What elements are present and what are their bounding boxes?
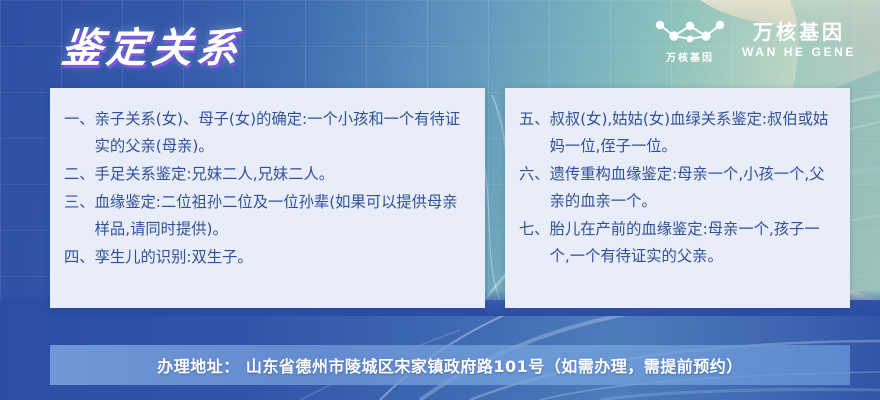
content-cards: 一、 亲子关系(女)、母子(女)的确定:一个小孩和一个有待证实的父亲(母亲)。 … [50, 88, 850, 308]
poster: 鉴定关系 [0, 0, 880, 400]
list-item: 七、 胎儿在产前的血缘鉴定:母亲一个,孩子一个,一个有待证实的父亲。 [519, 216, 836, 270]
list-item-number: 四、 [64, 244, 95, 271]
logo-mark: 万核基因 [654, 16, 726, 64]
list-item-number: 一、 [64, 106, 95, 160]
list-item-text: 亲子关系(女)、母子(女)的确定:一个小孩和一个有待证实的父亲(母亲)。 [95, 106, 471, 160]
list-item: 一、 亲子关系(女)、母子(女)的确定:一个小孩和一个有待证实的父亲(母亲)。 [64, 106, 471, 160]
brand-name-cn: 万核基因 [753, 22, 845, 43]
page-title: 鉴定关系 [59, 14, 245, 74]
list-item-number: 六、 [519, 161, 550, 215]
address-bar: 办理地址： 山东省德州市陵城区宋家镇政府路101号（如需办理，需提前预约） [50, 345, 850, 385]
logo-mark-label: 万核基因 [666, 49, 714, 64]
list-item-text: 手足关系鉴定:兄妹二人,兄妹二人。 [95, 161, 471, 188]
list-item: 二、 手足关系鉴定:兄妹二人,兄妹二人。 [64, 161, 471, 188]
list-item-text: 叔叔(女),姑姑(女)血绿关系鉴定:叔伯或姑妈一位,侄子一位。 [550, 106, 836, 160]
list-item: 四、 孪生儿的识别:双生子。 [64, 244, 471, 271]
list-item-text: 血缘鉴定:二位祖孙二位及一位孙辈(如果可以提供母亲样品,请同时提供)。 [95, 189, 471, 243]
list-item-number: 三、 [64, 189, 95, 243]
list-item-number: 二、 [64, 161, 95, 188]
list-item-text: 遗传重构血缘鉴定:母亲一个,小孩一个,父亲的血亲一个。 [550, 161, 836, 215]
list-item: 六、 遗传重构血缘鉴定:母亲一个,小孩一个,父亲的血亲一个。 [519, 161, 836, 215]
list-item-number: 五、 [519, 106, 550, 160]
brand-logo: 万核基因 万核基因 WAN HE GENE [654, 16, 856, 64]
card-right: 五、 叔叔(女),姑姑(女)血绿关系鉴定:叔伯或姑妈一位,侄子一位。 六、 遗传… [505, 88, 850, 308]
list-item-text: 胎儿在产前的血缘鉴定:母亲一个,孩子一个,一个有待证实的父亲。 [550, 216, 836, 270]
list-item-text: 孪生儿的识别:双生子。 [95, 244, 471, 271]
card-left: 一、 亲子关系(女)、母子(女)的确定:一个小孩和一个有待证实的父亲(母亲)。 … [50, 88, 485, 308]
address-text: 办理地址： 山东省德州市陵城区宋家镇政府路101号（如需办理，需提前预约） [157, 353, 742, 377]
logo-wordmark: 万核基因 WAN HE GENE [742, 22, 856, 59]
list-item-number: 七、 [519, 216, 550, 270]
gene-network-icon [654, 16, 726, 46]
brand-name-en: WAN HE GENE [742, 46, 856, 59]
list-item: 三、 血缘鉴定:二位祖孙二位及一位孙辈(如果可以提供母亲样品,请同时提供)。 [64, 189, 471, 243]
list-item: 五、 叔叔(女),姑姑(女)血绿关系鉴定:叔伯或姑妈一位,侄子一位。 [519, 106, 836, 160]
